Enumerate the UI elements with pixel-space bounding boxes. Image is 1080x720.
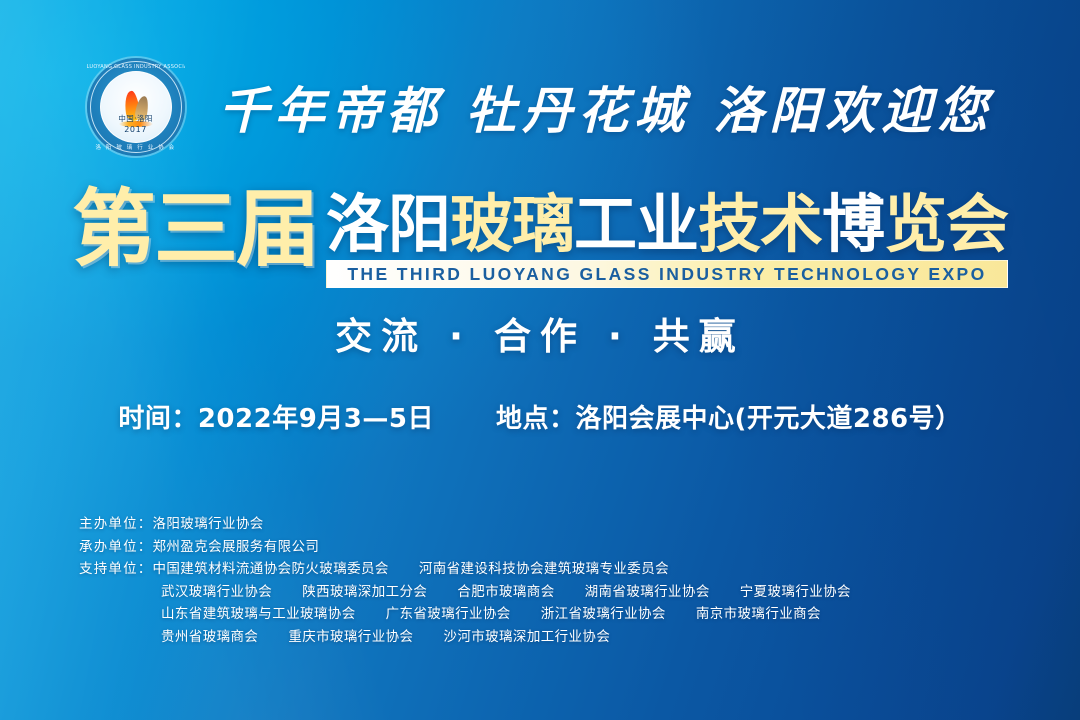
support-org: 中国建筑材料流通协会防火玻璃委员会 — [153, 558, 389, 581]
logo-inner-disc: 中国·洛阳 2017 — [100, 71, 172, 143]
title-char: 工 — [574, 188, 636, 261]
expo-poster: LUOYANG GLASS INDUSTRY ASSOCIATION 洛 阳 玻… — [0, 0, 1080, 720]
title-char: 业 — [636, 188, 698, 261]
welcome-slogan: 千年帝都 牡丹花城 洛阳欢迎您 — [219, 71, 994, 143]
logo-center-text: 中国·洛阳 — [101, 113, 171, 124]
support-org: 山东省建筑玻璃与工业玻璃协会 — [161, 603, 356, 626]
support-org: 河南省建设科技协会建筑玻璃专业委员会 — [419, 558, 669, 581]
title-char: 术 — [760, 188, 822, 261]
title-char: 阳 — [388, 188, 450, 261]
title-english-text: THE THIRD LUOYANG GLASS INDUSTRY TECHNOL… — [347, 264, 986, 285]
event-location: 地点：洛阳会展中心(开元大道286号） — [496, 398, 962, 435]
support-org: 宁夏玻璃行业协会 — [740, 581, 851, 604]
support-org: 贵州省玻璃商会 — [161, 626, 258, 649]
support-row-1: 支持单位： 中国建筑材料流通协会防火玻璃委员会河南省建设科技协会建筑玻璃专业委员… — [79, 558, 1019, 581]
title-char: 会 — [946, 188, 1008, 261]
support-org: 浙江省玻璃行业协会 — [541, 603, 666, 626]
title-main-chinese: 洛阳玻璃工业技术博览会 — [326, 192, 1008, 258]
luoyang-glass-association-logo: LUOYANG GLASS INDUSTRY ASSOCIATION 洛 阳 玻… — [87, 58, 185, 156]
support-label: 支持单位： — [79, 558, 153, 581]
event-info-bar: 时间：2022年9月3—5日 地点：洛阳会展中心(开元大道286号） — [0, 398, 1080, 435]
logo-arc-bottom-text: 洛 阳 玻 璃 行 业 协 会 — [87, 143, 185, 151]
support-org: 武汉玻璃行业协会 — [161, 581, 272, 604]
support-row-3: 山东省建筑玻璃与工业玻璃协会广东省玻璃行业协会浙江省玻璃行业协会南京市玻璃行业商… — [79, 603, 1019, 626]
support-org: 重庆市玻璃行业协会 — [288, 626, 413, 649]
organizations-footer: 主办单位： 洛阳玻璃行业协会 承办单位： 郑州盈克会展服务有限公司 支持单位： … — [79, 513, 1019, 648]
title-char: 览 — [884, 188, 946, 261]
title-char: 洛 — [326, 188, 388, 261]
host-value: 洛阳玻璃行业协会 — [153, 513, 264, 536]
organizer-value: 郑州盈克会展服务有限公司 — [153, 536, 320, 559]
support-org: 南京市玻璃行业商会 — [696, 603, 821, 626]
title-char: 博 — [822, 188, 884, 261]
organizer-label: 承办单位： — [79, 536, 153, 559]
title-block: 第三届 洛阳玻璃工业技术博览会 THE THIRD LUOYANG GLASS … — [0, 186, 1080, 288]
support-org: 沙河市玻璃深加工行业协会 — [443, 626, 610, 649]
support-row-4: 贵州省玻璃商会重庆市玻璃行业协会沙河市玻璃深加工行业协会 — [79, 626, 1019, 649]
support-org: 广东省玻璃行业协会 — [386, 603, 511, 626]
host-label: 主办单位： — [79, 513, 153, 536]
logo-year-text: 2017 — [101, 125, 171, 134]
poster-header: LUOYANG GLASS INDUSTRY ASSOCIATION 洛 阳 玻… — [0, 52, 1080, 162]
logo-arc-top-text: LUOYANG GLASS INDUSTRY ASSOCIATION — [87, 64, 185, 70]
event-slogan: 交流 · 合作 · 共赢 — [0, 306, 1080, 360]
title-char: 技 — [698, 188, 760, 261]
event-time: 时间：2022年9月3—5日 — [118, 398, 434, 435]
support-org: 陕西玻璃深加工分会 — [302, 581, 427, 604]
title-char: 璃 — [512, 188, 574, 261]
organizer-row: 承办单位： 郑州盈克会展服务有限公司 — [79, 536, 1019, 559]
support-org: 合肥市玻璃商会 — [457, 581, 554, 604]
support-org: 湖南省玻璃行业协会 — [585, 581, 710, 604]
title-char: 玻 — [450, 188, 512, 261]
title-english-band: THE THIRD LUOYANG GLASS INDUSTRY TECHNOL… — [326, 260, 1008, 288]
host-row: 主办单位： 洛阳玻璃行业协会 — [79, 513, 1019, 536]
support-row-2: 武汉玻璃行业协会陕西玻璃深加工分会合肥市玻璃商会湖南省玻璃行业协会宁夏玻璃行业协… — [79, 581, 1019, 604]
title-ordinal: 第三届 — [72, 186, 318, 272]
